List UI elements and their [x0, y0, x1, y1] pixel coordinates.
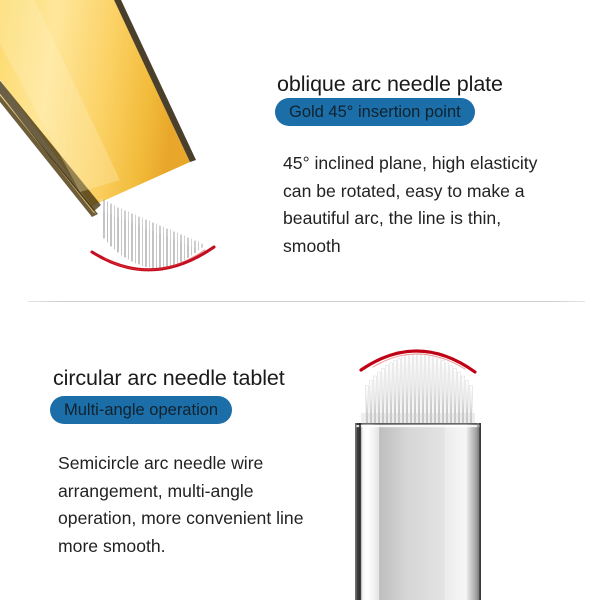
status-badge-multi-angle: Multi-angle operation	[50, 396, 232, 424]
section-divider	[28, 301, 585, 302]
description-oblique: 45° inclined plane, high elasticity can …	[283, 150, 583, 260]
description-line: smooth	[283, 233, 583, 261]
description-line: can be rotated, easy to make a	[283, 178, 583, 206]
description-circular: Semicircle arc needle wire arrangement, …	[58, 450, 358, 560]
description-line: arrangement, multi-angle	[58, 478, 358, 506]
description-line: 45° inclined plane, high elasticity	[283, 150, 583, 178]
description-line: Semicircle arc needle wire	[58, 450, 358, 478]
status-badge-gold-insertion: Gold 45° insertion point	[275, 98, 475, 126]
infographic-page: oblique arc needle plate Gold 45° insert…	[0, 0, 600, 600]
description-line: beautiful arc, the line is thin,	[283, 205, 583, 233]
description-line: more smooth.	[58, 533, 358, 561]
page-title-circular: circular arc needle tablet	[53, 366, 285, 391]
description-line: operation, more convenient line	[58, 505, 358, 533]
gold-oblique-needle-blade-photo	[0, 0, 262, 292]
page-title-oblique: oblique arc needle plate	[277, 72, 503, 97]
silver-circular-arc-needle-blade-photo	[325, 325, 510, 600]
